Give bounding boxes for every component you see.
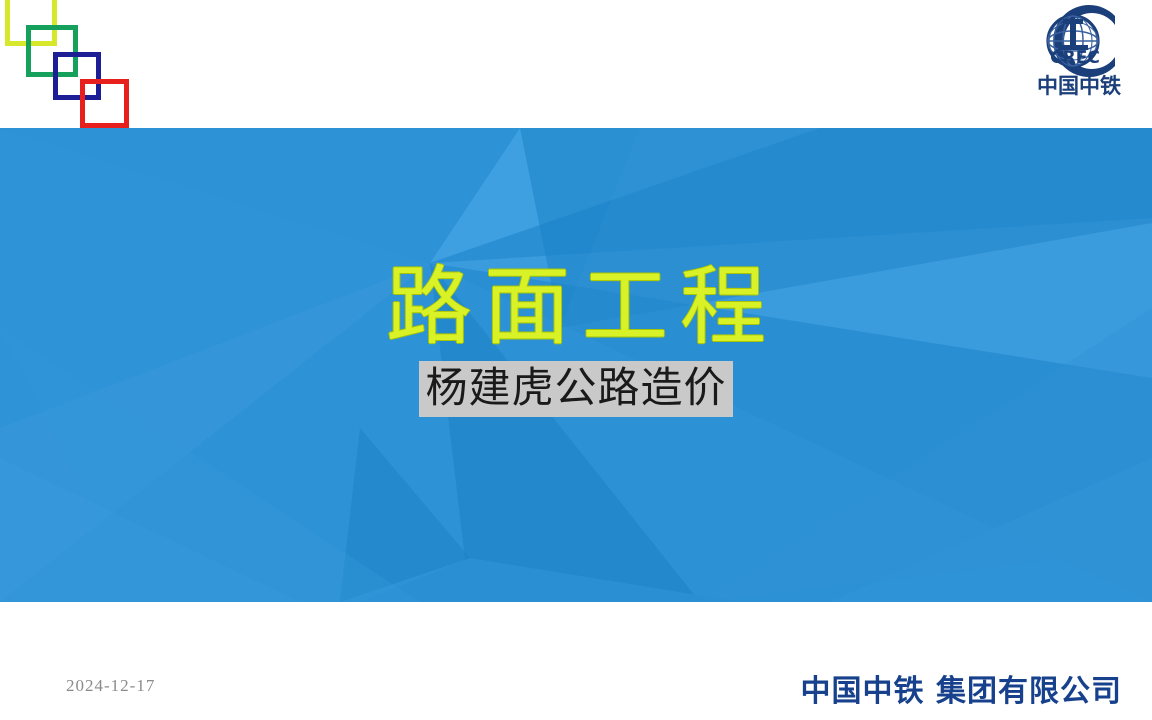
presentation-slide: CREC 中国中铁 (0, 0, 1152, 720)
page-title: 路面工程 (0, 262, 1152, 353)
page-subtitle: 杨建虎公路造价 (419, 361, 732, 417)
decorative-squares-group (0, 0, 150, 135)
logo-wordmark: 中国中铁 (1014, 76, 1144, 97)
crec-globe-logo-icon: CREC (1027, 2, 1131, 80)
company-logo: CREC 中国中铁 (1014, 2, 1144, 120)
title-group: 路面工程 杨建虎公路造价 (0, 262, 1152, 417)
red-square-icon (80, 79, 129, 128)
footer-date: 2024-12-17 (66, 676, 155, 696)
footer-company-name: 中国中铁 集团有限公司 (801, 666, 1122, 710)
subtitle-line: 杨建虎公路造价 (0, 361, 1152, 417)
crec-letters: CREC (1050, 48, 1100, 68)
